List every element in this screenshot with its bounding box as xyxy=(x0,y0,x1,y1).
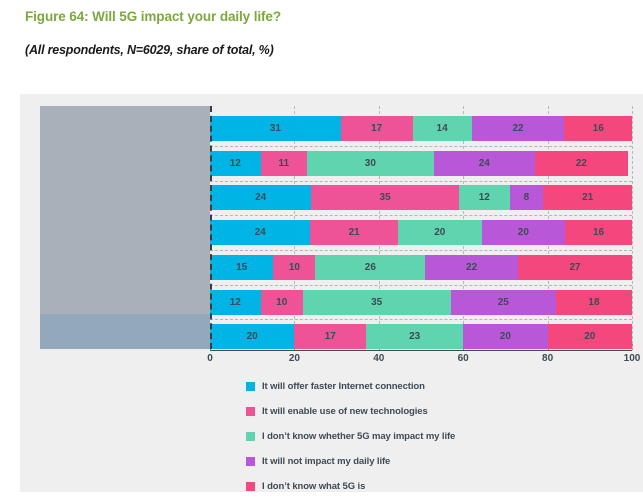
bar-segment[interactable]: 15 xyxy=(210,255,273,280)
bar-segment[interactable]: 35 xyxy=(311,185,459,210)
legend-swatch-icon xyxy=(246,457,255,466)
bar-segment[interactable]: 17 xyxy=(341,116,413,141)
row-separator xyxy=(210,146,632,147)
bar-row: North Macedonia2421202016 xyxy=(40,220,632,245)
bar-row: Bosnia and Herzegovina1211302422 xyxy=(40,151,632,176)
legend-swatch-icon xyxy=(246,432,255,441)
stacked-bar: 1211302422 xyxy=(210,151,632,176)
bar-segment[interactable]: 12 xyxy=(210,151,261,176)
bar-segment[interactable]: 35 xyxy=(303,290,451,315)
bar-segment[interactable]: 31 xyxy=(210,116,341,141)
bar-segment[interactable]: 8 xyxy=(510,185,544,210)
bar-segment[interactable]: 22 xyxy=(425,255,518,280)
bar-segment[interactable]: 24 xyxy=(210,185,311,210)
bar-segment[interactable]: 24 xyxy=(434,151,535,176)
x-tick-label: 20 xyxy=(289,353,300,364)
bar-segment[interactable]: 27 xyxy=(518,255,632,280)
legend-swatch-icon xyxy=(246,482,255,491)
bar-segment[interactable]: 22 xyxy=(535,151,628,176)
gridline-100 xyxy=(632,106,633,349)
x-tick-label: 100 xyxy=(624,353,641,364)
legend-label: I don’t know what 5G is xyxy=(262,481,365,492)
bar-segment[interactable]: 10 xyxy=(273,255,315,280)
legend: It will offer faster Internet connection… xyxy=(246,376,455,501)
bar-segment[interactable]: 18 xyxy=(556,290,632,315)
stacked-bar: 243512821 xyxy=(210,185,632,210)
legend-item[interactable]: I don’t know what 5G is xyxy=(246,476,455,497)
y-axis-line xyxy=(210,106,212,349)
bar-segment[interactable]: 10 xyxy=(261,290,303,315)
bar-segment[interactable]: 21 xyxy=(543,185,632,210)
bar-segment[interactable]: 20 xyxy=(398,220,482,245)
row-separator xyxy=(210,319,632,320)
legend-item[interactable]: It will not impact my daily life xyxy=(246,451,455,472)
page-title: Figure 64: Will 5G impact your daily lif… xyxy=(25,9,281,24)
stacked-bar: 2017232020 xyxy=(210,324,632,349)
row-separator xyxy=(210,215,632,216)
x-tick-label: 80 xyxy=(542,353,553,364)
bar-segment[interactable]: 12 xyxy=(459,185,510,210)
legend-label: I don’t know whether 5G may impact my li… xyxy=(262,431,455,442)
bar-segment[interactable]: 20 xyxy=(463,324,547,349)
bar-row: Montenegro1510262227 xyxy=(40,255,632,280)
stacked-bar: 1510262227 xyxy=(210,255,632,280)
bar-row: Western Balkans2017232020 xyxy=(40,324,632,349)
bar-row: Kosovo*243512821 xyxy=(40,185,632,210)
bar-segment[interactable]: 20 xyxy=(210,324,294,349)
page-subtitle: (All respondents, N=6029, share of total… xyxy=(25,43,274,57)
bar-row: Serbia1210352518 xyxy=(40,290,632,315)
plot-area: Albania3117142216Bosnia and Herzegovina1… xyxy=(40,106,632,349)
bar-segment[interactable]: 30 xyxy=(307,151,434,176)
legend-label: It will enable use of new technologies xyxy=(262,406,428,417)
row-separator xyxy=(210,285,632,286)
chart-panel: Albania3117142216Bosnia and Herzegovina1… xyxy=(20,94,643,492)
legend-swatch-icon xyxy=(246,407,255,416)
legend-item[interactable]: It will enable use of new technologies xyxy=(246,401,455,422)
bar-segment[interactable]: 14 xyxy=(413,116,472,141)
row-separator xyxy=(210,181,632,182)
stacked-bar: 2421202016 xyxy=(210,220,632,245)
x-tick-label: 0 xyxy=(207,353,213,364)
stacked-bar: 1210352518 xyxy=(210,290,632,315)
legend-label: It will not impact my daily life xyxy=(262,456,390,467)
bar-segment[interactable]: 25 xyxy=(451,290,557,315)
legend-item[interactable]: I don’t know whether 5G may impact my li… xyxy=(246,426,455,447)
bar-segment[interactable]: 23 xyxy=(366,324,463,349)
bar-segment[interactable]: 20 xyxy=(548,324,632,349)
legend-swatch-icon xyxy=(246,382,255,391)
bar-segment[interactable]: 21 xyxy=(310,220,398,245)
x-tick-label: 60 xyxy=(458,353,469,364)
bar-segment[interactable]: 24 xyxy=(210,220,310,245)
bar-segment[interactable]: 11 xyxy=(261,151,307,176)
bar-segment[interactable]: 17 xyxy=(294,324,366,349)
bar-segment[interactable]: 12 xyxy=(210,290,261,315)
x-tick-label: 40 xyxy=(373,353,384,364)
stacked-bar: 3117142216 xyxy=(210,116,632,141)
bar-segment[interactable]: 16 xyxy=(565,220,632,245)
legend-label: It will offer faster Internet connection xyxy=(262,381,425,392)
bar-row: Albania3117142216 xyxy=(40,116,632,141)
x-axis-line xyxy=(210,350,632,351)
row-separator xyxy=(210,250,632,251)
bar-segment[interactable]: 26 xyxy=(315,255,425,280)
legend-item[interactable]: It will offer faster Internet connection xyxy=(246,376,455,397)
bar-segment[interactable]: 20 xyxy=(482,220,566,245)
bar-segment[interactable]: 22 xyxy=(472,116,565,141)
bar-segment[interactable]: 16 xyxy=(564,116,632,141)
